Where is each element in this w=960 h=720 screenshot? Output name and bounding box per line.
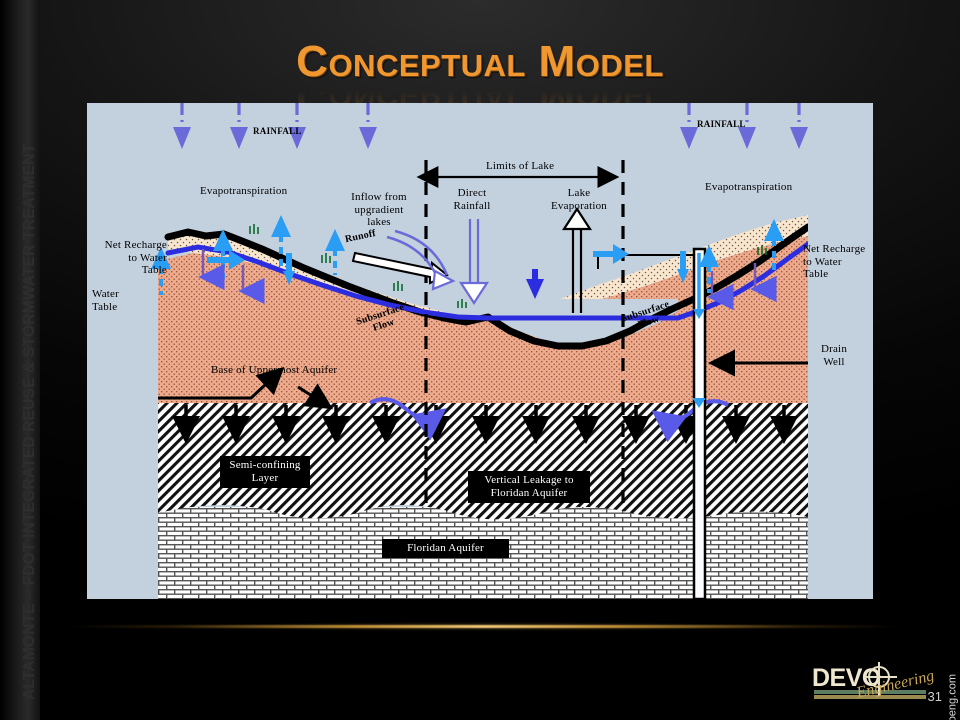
label-evapotranspiration-right: Evapotranspiration (705, 181, 792, 194)
label-vertical-leakage: Vertical Leakage to Floridan Aquifer (468, 471, 590, 503)
label-inflow-upgradient: Inflow from upgradient lakes (337, 191, 421, 229)
devo-engineering-logo: DEVO Engineering (812, 662, 930, 704)
label-drain-well: Drain Well (805, 343, 863, 368)
label-net-recharge-right: Net Recharge to Water Table (803, 243, 873, 281)
page-title-text: Conceptual Model (0, 36, 960, 88)
label-evapotranspiration-left: Evapotranspiration (200, 185, 287, 198)
label-direct-rainfall: Direct Rainfall (437, 187, 507, 212)
gold-rule (70, 625, 900, 628)
conceptual-model-diagram: RAINFALL RAINFALL Evapotranspiration Eva… (87, 103, 873, 599)
label-rainfall-right: RAINFALL (697, 118, 746, 131)
page-number: 31 (928, 689, 942, 704)
slide: ALTAMONTE – FDOT INTEGRATED REUSE & STOR… (0, 0, 960, 720)
page-title: Conceptual Model Conceptual Model (0, 36, 960, 102)
label-floridan-aquifer: Floridan Aquifer (382, 539, 509, 558)
website-url: www.devoeng.com (946, 674, 958, 720)
flux-outline-arrows (87, 103, 873, 599)
label-semi-confining-layer: Semi-confining Layer (220, 456, 310, 488)
label-lake-evaporation: Lake Evaporation (539, 187, 619, 212)
label-base-of-uppermost-aquifer: Base of Uppermost Aquifer (211, 364, 337, 377)
label-rainfall-left: RAINFALL (253, 125, 302, 138)
label-water-table: Water Table (92, 288, 119, 313)
label-net-recharge-left: Net Recharge to Water Table (87, 239, 167, 277)
label-limits-of-lake: Limits of Lake (486, 160, 554, 173)
